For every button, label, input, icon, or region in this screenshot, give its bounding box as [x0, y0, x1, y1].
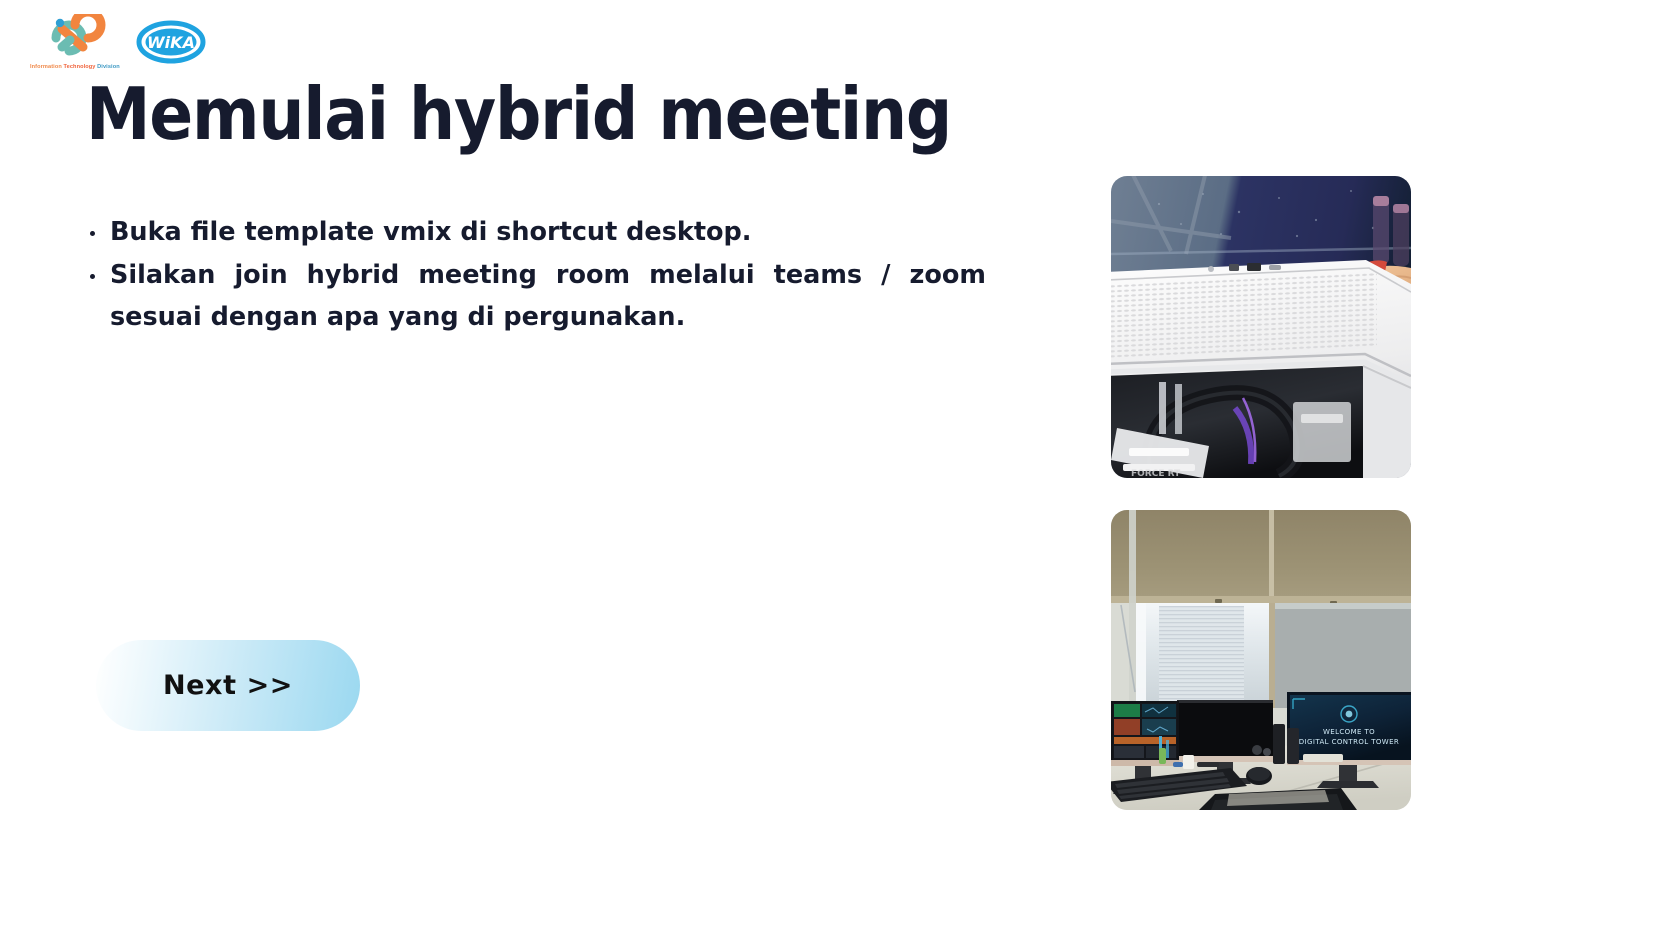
wika-logo: WiKA	[136, 19, 206, 65]
slide-canvas: Information Technology Division WiKA Mem…	[0, 0, 1680, 945]
bullet-text-1: Buka file template vmix di shortcut desk…	[110, 217, 751, 247]
logo-caption-division: Division	[97, 64, 120, 70]
svg-text:DIGITAL CONTROL TOWER: DIGITAL CONTROL TOWER	[1299, 738, 1399, 746]
svg-text:FORCE RT: FORCE RT	[1131, 469, 1181, 478]
bullet-text-2: Silakan join hybrid meeting room melalui…	[110, 260, 986, 331]
next-button[interactable]: Next >>	[96, 640, 360, 731]
control-room-photo: WELCOME TO DIGITAL CONTROL TOWER	[1111, 510, 1411, 810]
svg-text:WiKA: WiKA	[147, 33, 195, 52]
logo-caption-technology: Technology	[64, 64, 98, 70]
logo-bar: Information Technology Division WiKA	[30, 14, 206, 70]
page-title: Memulai hybrid meeting	[86, 78, 951, 151]
logo-caption-information: Information	[30, 64, 64, 70]
list-item: Silakan join hybrid meeting room melalui…	[86, 255, 986, 338]
bullet-list: Buka file template vmix di shortcut desk…	[86, 212, 986, 340]
pc-case-photo: FORCE RT	[1111, 176, 1411, 478]
logo-caption: Information Technology Division	[30, 65, 114, 71]
information-technology-division-logo: Information Technology Division	[30, 14, 114, 70]
list-item: Buka file template vmix di shortcut desk…	[86, 212, 986, 253]
svg-text:WELCOME TO: WELCOME TO	[1323, 728, 1375, 736]
